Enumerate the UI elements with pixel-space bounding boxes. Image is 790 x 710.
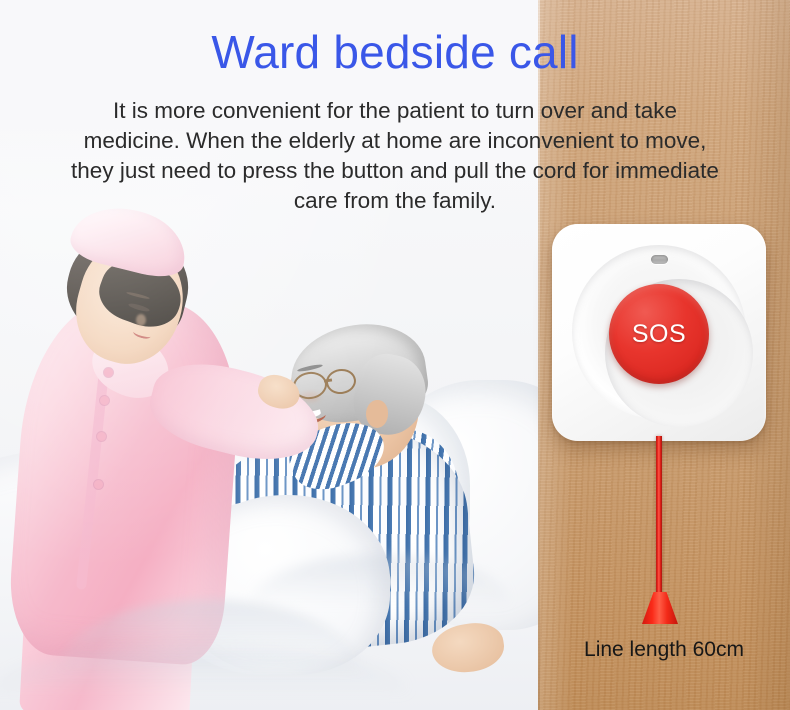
nurse-uniform-button: [97, 432, 106, 441]
nurse-nose: [136, 314, 146, 326]
cord-length-caption: Line length 60cm: [538, 637, 790, 663]
patient-ear: [366, 400, 388, 428]
status-led-icon: [651, 255, 668, 264]
promo-banner: Ward bedside call It is more convenient …: [0, 0, 790, 710]
nurse-uniform-button: [104, 368, 113, 377]
nurse-uniform-button: [94, 480, 103, 489]
page-title: Ward bedside call: [0, 26, 790, 78]
pull-cord[interactable]: [656, 436, 662, 598]
page-description: It is more convenient for the patient to…: [62, 96, 728, 216]
nurse-uniform-button: [100, 396, 109, 405]
sos-button[interactable]: SOS: [609, 284, 709, 384]
sos-button-label: SOS: [632, 320, 686, 349]
sos-call-button-device[interactable]: SOS: [552, 224, 766, 441]
